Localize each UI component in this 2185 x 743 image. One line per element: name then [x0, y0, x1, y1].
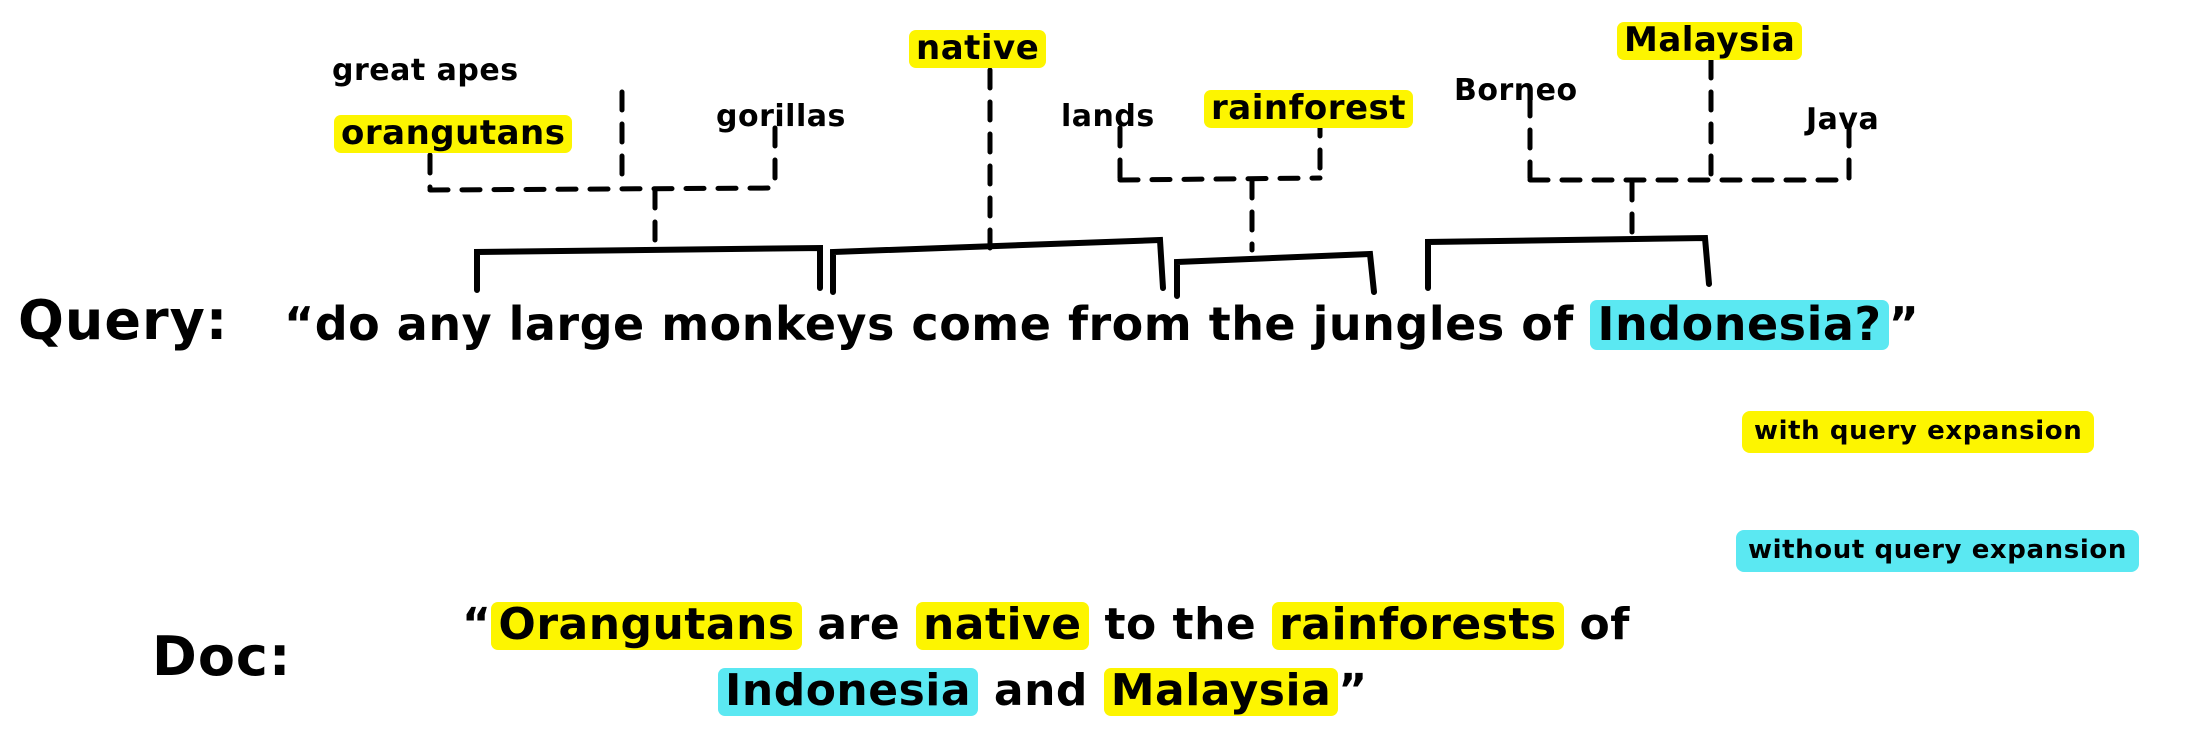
doc-seg-are: are — [802, 599, 916, 650]
bracket-large-monkeys — [477, 248, 820, 290]
doc-open-quote: “ — [462, 599, 491, 650]
query-seg-indonesia: Indonesia? — [1590, 300, 1888, 350]
bracket-come-from-the — [833, 240, 1163, 292]
diagram-canvas: great apes orangutans gorillas native la… — [0, 0, 2185, 743]
tree-term-gorillas: gorillas — [716, 102, 846, 132]
doc-seg-indonesia: Indonesia — [718, 668, 978, 716]
doc-seg-and: and — [978, 665, 1104, 716]
query-seg-jungles-of: jungles of — [1313, 297, 1591, 351]
tree-bar-group3 — [1120, 178, 1320, 180]
doc-text-line1: “Orangutans are native to the rainforest… — [462, 602, 1630, 650]
tree-term-malaysia: Malaysia — [1617, 22, 1802, 60]
doc-text-line2: Indonesia and Malaysia” — [718, 668, 1368, 716]
tree-term-java: Java — [1806, 105, 1879, 135]
doc-seg-malaysia: Malaysia — [1104, 668, 1339, 716]
tree-term-orangutans: orangutans — [334, 115, 572, 153]
doc-seg-to-the: to the — [1089, 599, 1272, 650]
tree-term-great-apes: great apes — [332, 56, 519, 86]
doc-row-label: Doc: — [152, 630, 292, 684]
query-seg-come-from-the: come from the — [895, 297, 1313, 351]
doc-seg-orangutans: Orangutans — [491, 602, 801, 650]
query-seg-do-any: do any — [315, 297, 509, 351]
doc-close-quote: ” — [1338, 665, 1367, 716]
doc-seg-of: of — [1564, 599, 1630, 650]
query-row-label: Query: — [18, 294, 228, 348]
query-open-quote: “ — [284, 297, 315, 351]
tree-term-lands: lands — [1061, 102, 1155, 132]
legend-label-without: without query expansion — [1736, 530, 2139, 572]
query-text: “do any large monkeys come from the jung… — [284, 300, 1919, 350]
legend-with-query-expansion: with query expansion — [1742, 411, 2094, 453]
tree-term-borneo: Borneo — [1454, 76, 1578, 106]
bracket-indonesia — [1428, 238, 1709, 288]
query-seg-large-monkeys: large monkeys — [509, 297, 895, 351]
query-close-quote: ” — [1889, 297, 1920, 351]
tree-term-rainforest: rainforest — [1204, 90, 1413, 128]
bracket-jungles-of — [1177, 254, 1374, 296]
legend-label-with: with query expansion — [1742, 411, 2094, 453]
doc-seg-native: native — [916, 602, 1089, 650]
tree-bar-group1 — [430, 188, 775, 190]
tree-term-native: native — [909, 30, 1046, 68]
legend-without-query-expansion: without query expansion — [1736, 530, 2139, 572]
doc-seg-rainforests: rainforests — [1272, 602, 1564, 650]
